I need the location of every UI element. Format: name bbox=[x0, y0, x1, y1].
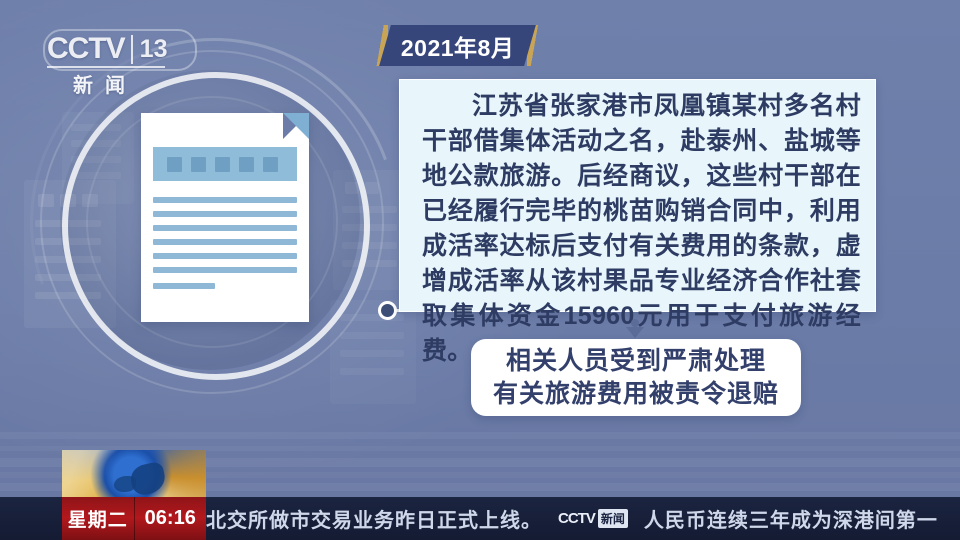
down-arrow-icon bbox=[624, 319, 646, 339]
document-text-line bbox=[153, 267, 297, 273]
document-text-line bbox=[153, 283, 215, 289]
background-band bbox=[0, 432, 960, 439]
ticker-logo-cctv: CCTV bbox=[558, 510, 595, 527]
document-text-line bbox=[153, 239, 297, 245]
date-time-box: 星期二 06:16 bbox=[62, 497, 206, 540]
document-text-line bbox=[153, 253, 297, 259]
arrow-dot bbox=[631, 319, 639, 327]
document-header-band bbox=[153, 147, 297, 181]
document-header-block bbox=[191, 157, 206, 172]
ticker-time: 06:16 bbox=[135, 507, 207, 530]
globe-graphic bbox=[62, 450, 206, 497]
document-fold-icon bbox=[283, 113, 309, 139]
arrow-triangle bbox=[626, 327, 644, 338]
document-header-block bbox=[239, 157, 254, 172]
document-text-line bbox=[153, 225, 297, 231]
document-illustration bbox=[141, 113, 309, 322]
logo-underline bbox=[47, 66, 165, 68]
content-panel: 江苏省张家港市凤凰镇某村多名村干部借集体活动之名，赴泰州、盐城等地公款旅游。后经… bbox=[399, 79, 876, 312]
ticker-headline-1: 北交所做市交易业务昨日正式上线。 bbox=[206, 504, 542, 533]
document-header-block bbox=[263, 157, 278, 172]
news-ticker-bar: 北交所做市交易业务昨日正式上线。 CCTV 新闻 人民币连续三年成为深港间第一 … bbox=[0, 497, 960, 540]
document-text-line bbox=[153, 211, 297, 217]
logo-subtitle: 新闻 bbox=[73, 69, 137, 98]
badge-body: 2021年8月 bbox=[379, 25, 536, 66]
connector-dot bbox=[378, 301, 397, 320]
channel-logo: CCTV 13 新闻 bbox=[47, 32, 193, 94]
broadcast-screen: CCTV 13 新闻 2021年8月 江苏省张家港市凤凰镇某村多名村干部借集体活… bbox=[0, 0, 960, 540]
document-header-block bbox=[215, 157, 230, 172]
ticker-headlines: 北交所做市交易业务昨日正式上线。 CCTV 新闻 人民币连续三年成为深港间第一 bbox=[206, 497, 938, 540]
conclusion-callout: 相关人员受到严肃处理 有关旅游费用被责令退赔 bbox=[471, 339, 801, 416]
document-header-block bbox=[167, 157, 182, 172]
ticker-cctv-news-logo: CCTV 新闻 bbox=[556, 508, 630, 529]
ticker-weekday: 星期二 bbox=[62, 505, 134, 532]
callout-line-1: 相关人员受到严肃处理 bbox=[506, 345, 766, 378]
logo-pill-outline bbox=[43, 29, 197, 71]
document-text-line bbox=[153, 197, 297, 203]
callout-line-2: 有关旅游费用被责令退赔 bbox=[493, 378, 779, 411]
globe-sheen bbox=[62, 450, 206, 497]
badge-label: 2021年8月 bbox=[401, 29, 514, 63]
ticker-logo-news: 新闻 bbox=[598, 509, 628, 528]
date-badge: 2021年8月 bbox=[374, 25, 541, 66]
ticker-headline-2: 人民币连续三年成为深港间第一 bbox=[644, 504, 938, 533]
